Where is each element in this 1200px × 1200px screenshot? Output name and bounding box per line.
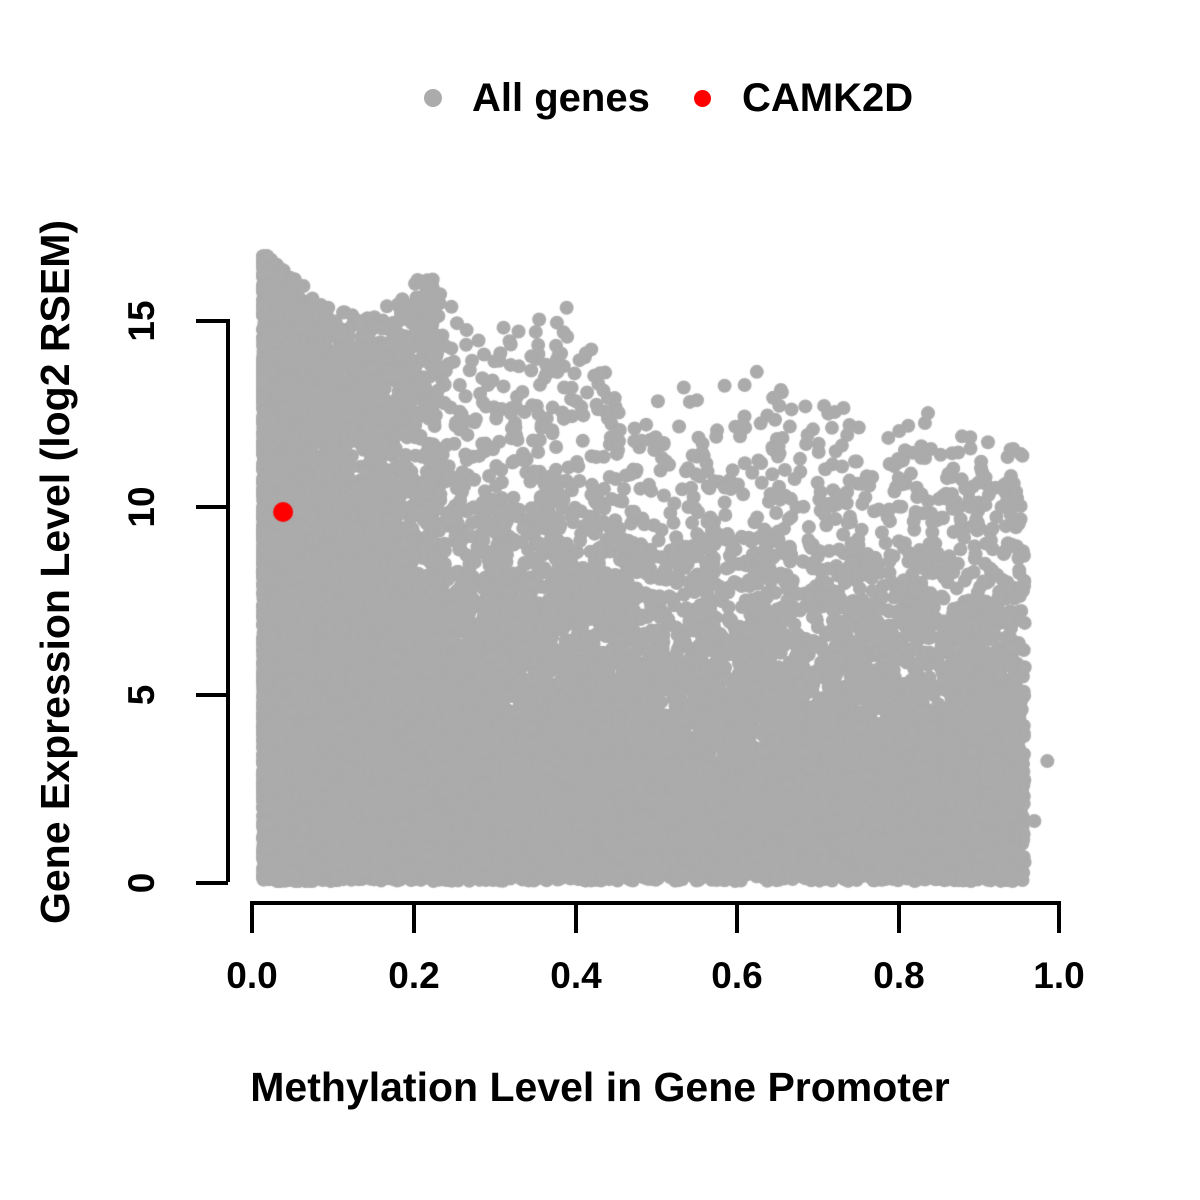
x-tick-0.2	[412, 901, 416, 933]
y-tick-5	[196, 693, 228, 697]
y-tick-label-0: 0	[122, 853, 162, 913]
scatter-plot-canvas	[0, 0, 1200, 1200]
x-tick-0.4	[574, 901, 578, 933]
y-tick-0	[196, 881, 228, 885]
y-tick-10	[196, 505, 228, 509]
y-tick-label-5: 5	[122, 665, 162, 725]
x-tick-0.8	[897, 901, 901, 933]
y-tick-label-15: 15	[122, 291, 162, 351]
x-axis-line	[250, 901, 1061, 905]
y-axis-title: Gene Expression Level (log2 RSEM)	[28, 162, 82, 982]
y-axis-line	[226, 319, 230, 882]
x-tick-1.0	[1057, 901, 1061, 933]
scatter-plot-figure: All genes CAMK2D 0 5 10 15 Gene Expressi…	[0, 0, 1200, 1200]
x-tick-label-1.0: 1.0	[1004, 955, 1114, 997]
x-tick-label-0.2: 0.2	[359, 955, 469, 997]
y-tick-15	[196, 319, 228, 323]
x-tick-0.6	[735, 901, 739, 933]
x-tick-label-0.4: 0.4	[521, 955, 631, 997]
x-tick-label-0.6: 0.6	[682, 955, 792, 997]
x-tick-0.0	[250, 901, 254, 933]
x-tick-label-0.0: 0.0	[197, 955, 307, 997]
x-axis-title: Methylation Level in Gene Promoter	[0, 1062, 1200, 1112]
y-tick-label-10: 10	[122, 477, 162, 537]
x-tick-label-0.8: 0.8	[844, 955, 954, 997]
